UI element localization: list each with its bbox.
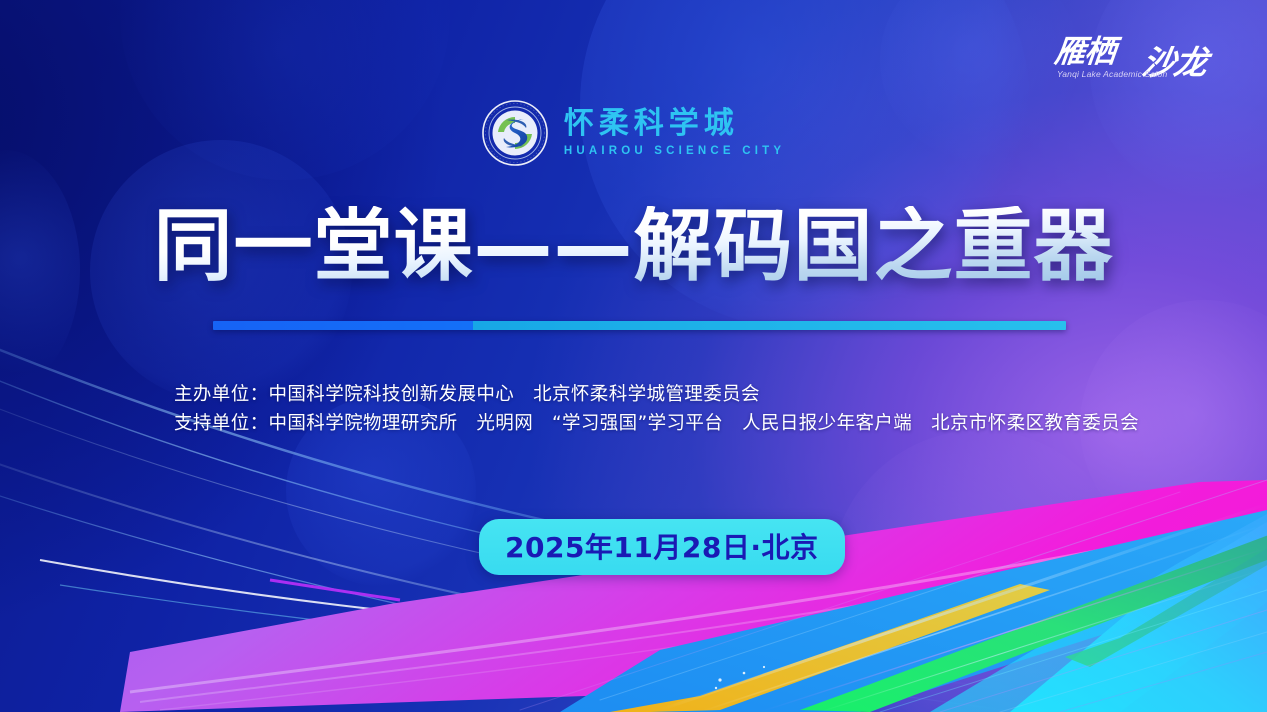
huairou-science-city-lockup: 怀柔科学城 HUAIROU SCIENCE CITY [0, 100, 1267, 166]
huairou-science-city-cn: 怀柔科学城 [564, 109, 785, 139]
date-location-badge: 2025年11月28日·北京 [479, 519, 845, 575]
title-divider-segment-left [213, 321, 473, 330]
salon-logo-cn-primary: 雁栖 [1053, 26, 1118, 71]
supporting-organizations: 支持单位：中国科学院物理研究所 光明网 “学习强国”学习平台 人民日报少年客户端… [174, 409, 1139, 438]
organizer-credits: 主办单位：中国科学院科技创新发展中心 北京怀柔科学城管理委员会 支持单位：中国科… [174, 380, 1139, 438]
yanqi-salon-logo: 雁栖 沙龙 Yanqi Lake Academic Salon [1055, 26, 1225, 72]
host-organizations: 主办单位：中国科学院科技创新发展中心 北京怀柔科学城管理委员会 [174, 380, 1139, 409]
main-title-wrap: 同一堂课——解码国之重器 [0, 206, 1267, 287]
huairou-science-city-en: HUAIROU SCIENCE CITY [564, 146, 785, 158]
page-title: 同一堂课——解码国之重器 [154, 206, 1114, 287]
poster-content: 雁栖 沙龙 Yanqi Lake Academic Salon [0, 0, 1267, 712]
huairou-science-city-emblem [482, 100, 548, 166]
event-poster: 雁栖 沙龙 Yanqi Lake Academic Salon [0, 0, 1267, 712]
title-divider-segment-right [473, 321, 1066, 330]
salon-logo-en-subtitle: Yanqi Lake Academic Salon [1057, 69, 1167, 79]
title-divider [213, 321, 1066, 330]
